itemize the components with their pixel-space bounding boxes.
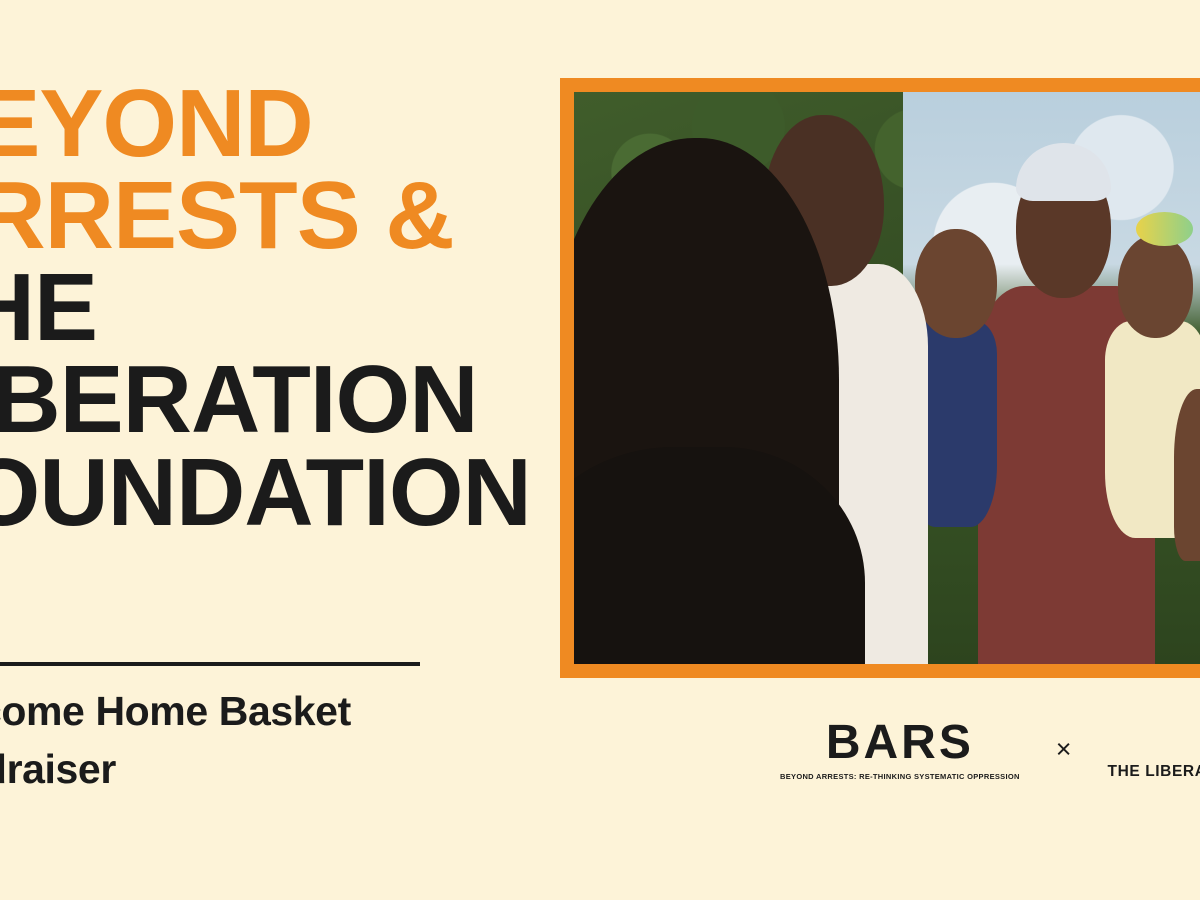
headline-line-3: THE (0, 262, 528, 354)
bars-tagline: BEYOND ARRESTS: RE-THINKING SYSTEMATIC O… (780, 772, 1020, 781)
bars-wordmark: BARS (826, 719, 974, 767)
headline-line-1: BEYOND (0, 78, 528, 170)
logo-separator-x: × (1056, 736, 1072, 763)
liberation-foundation-logo: THE LIBERATION FOUNDATION (1108, 718, 1200, 781)
bars-logo: BARS BEYOND ARRESTS: RE-THINKING SYSTEMA… (780, 719, 1020, 781)
logo-row: BARS BEYOND ARRESTS: RE-THINKING SYSTEMA… (780, 718, 1200, 781)
photo-child-right-head (1118, 235, 1194, 338)
subtitle-line-2: Fundraiser (0, 740, 508, 798)
family-photo (574, 92, 1200, 664)
photo-person-far-right-arm (1174, 389, 1200, 561)
headline-line-4: LIBERATION (0, 354, 528, 446)
subtitle-line-1: Welcome Home Basket (0, 682, 508, 740)
headline-line-5: FOUNDATION (0, 447, 528, 539)
liberation-foundation-wordmark: THE LIBERATION FOUNDATION (1108, 763, 1200, 781)
photo-frame (560, 78, 1200, 678)
photo-child-left-head (915, 229, 997, 338)
subtitle: Welcome Home Basket Fundraiser (0, 682, 508, 798)
page-title: BEYOND ARRESTS & THE LIBERATION FOUNDATI… (0, 78, 528, 539)
divider-rule (0, 662, 420, 666)
headline-line-2: ARRESTS & (0, 170, 528, 262)
slide-canvas: BEYOND ARRESTS & THE LIBERATION FOUNDATI… (0, 0, 1200, 900)
